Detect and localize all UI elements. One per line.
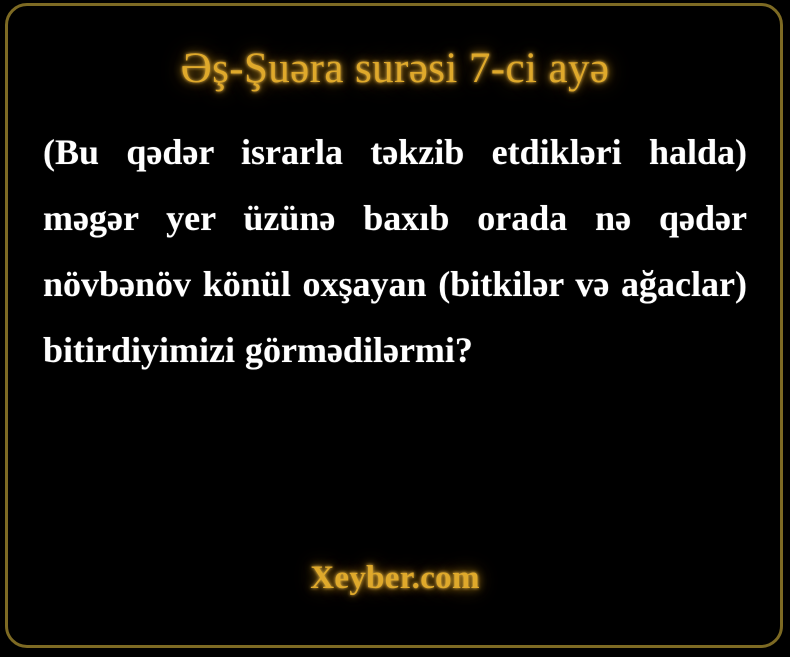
site-watermark: Xeyber.com [0,560,790,597]
card-content: Əş-Şuəra surəsi 7-ci ayə (Bu qədər israr… [0,0,790,657]
verse-card: Əş-Şuəra surəsi 7-ci ayə (Bu qədər israr… [0,0,790,657]
page-title: Əş-Şuəra surəsi 7-ci ayə [36,0,754,95]
verse-body-text: (Bu qədər israrla təkzib etdikləri halda… [36,95,754,383]
